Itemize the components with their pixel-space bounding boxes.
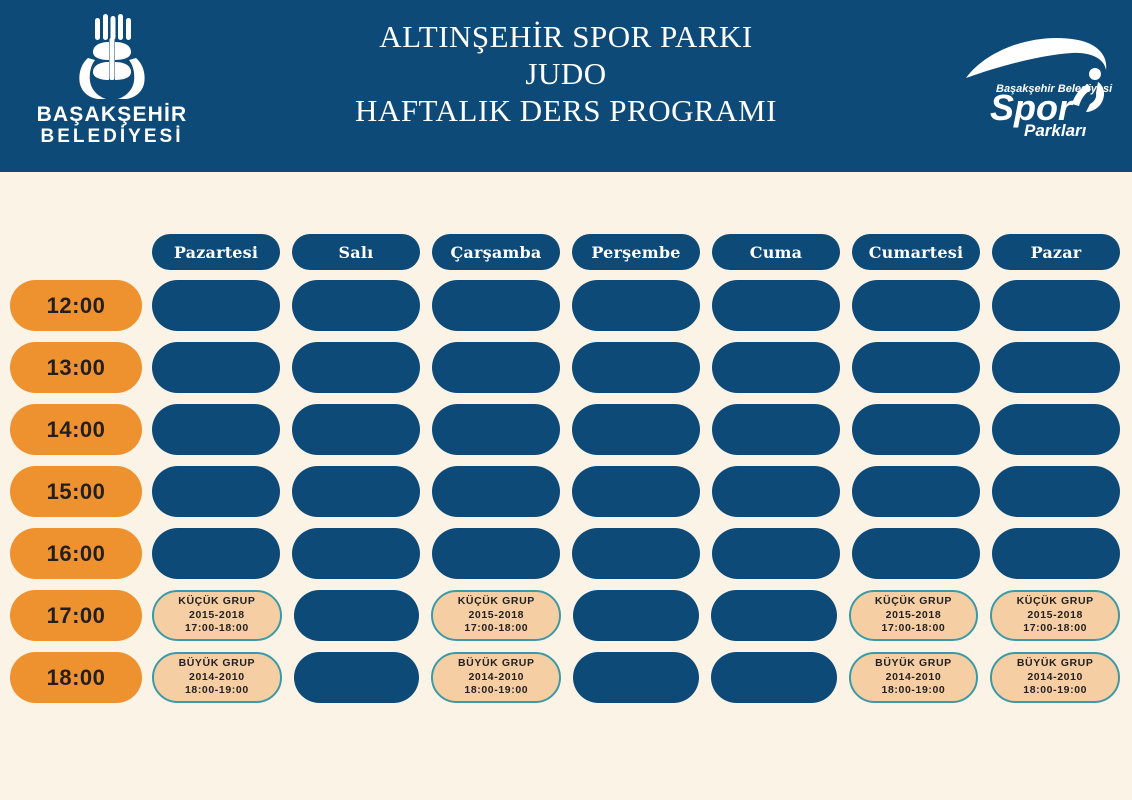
day-header-cuma[interactable]: Cuma bbox=[712, 234, 840, 270]
empty-cell-pazartesi[interactable] bbox=[152, 404, 280, 455]
empty-cell-sali[interactable] bbox=[292, 528, 420, 579]
class-time-range: 17:00-18:00 bbox=[185, 622, 249, 636]
empty-cell-sali[interactable] bbox=[292, 404, 420, 455]
empty-cell-persembe[interactable] bbox=[572, 466, 700, 517]
class-time-range: 18:00-19:00 bbox=[185, 684, 249, 698]
empty-cell-cuma[interactable] bbox=[712, 466, 840, 517]
schedule-row: 17:00KÜÇÜK GRUP2015-201817:00-18:00KÜÇÜK… bbox=[0, 590, 1132, 641]
class-cell-pazar[interactable]: BÜYÜK GRUP2014-201018:00-19:00 bbox=[990, 652, 1120, 703]
empty-cell-sali[interactable] bbox=[294, 590, 420, 641]
class-cell-carsamba[interactable]: KÜÇÜK GRUP2015-201817:00-18:00 bbox=[431, 590, 561, 641]
class-cell-pazar[interactable]: KÜÇÜK GRUP2015-201817:00-18:00 bbox=[990, 590, 1120, 641]
schedule-row: 12:00 bbox=[0, 280, 1132, 331]
empty-cell-carsamba[interactable] bbox=[432, 280, 560, 331]
spor-parklari-word-parklari: Parkları bbox=[1024, 121, 1087, 140]
class-birth-years: 2015-2018 bbox=[886, 609, 942, 623]
day-header-sali[interactable]: Salı bbox=[292, 234, 420, 270]
empty-cell-sali[interactable] bbox=[292, 466, 420, 517]
time-slot-label[interactable]: 14:00 bbox=[10, 404, 142, 455]
day-header-row: Pazartesi Salı Çarşamba Perşembe Cuma Cu… bbox=[152, 234, 1120, 270]
class-group-name: KÜÇÜK GRUP bbox=[875, 595, 952, 609]
class-cell-pazartesi[interactable]: KÜÇÜK GRUP2015-201817:00-18:00 bbox=[152, 590, 282, 641]
class-group-name: KÜÇÜK GRUP bbox=[178, 595, 255, 609]
empty-cell-pazartesi[interactable] bbox=[152, 280, 280, 331]
class-time-range: 18:00-19:00 bbox=[882, 684, 946, 698]
day-header-carsamba[interactable]: Çarşamba bbox=[432, 234, 560, 270]
schedule-row: 18:00BÜYÜK GRUP2014-201018:00-19:00BÜYÜK… bbox=[0, 652, 1132, 703]
empty-cell-sali[interactable] bbox=[292, 280, 420, 331]
empty-cell-persembe[interactable] bbox=[572, 280, 700, 331]
empty-cell-cuma[interactable] bbox=[711, 590, 837, 641]
schedule-row: 13:00 bbox=[0, 342, 1132, 393]
schedule-rows: 12:0013:0014:0015:0016:0017:00KÜÇÜK GRUP… bbox=[0, 280, 1132, 714]
schedule-row-cells bbox=[152, 280, 1120, 331]
class-group-name: KÜÇÜK GRUP bbox=[458, 595, 535, 609]
empty-cell-cumartesi[interactable] bbox=[852, 280, 980, 331]
time-slot-label[interactable]: 12:00 bbox=[10, 280, 142, 331]
empty-cell-persembe[interactable] bbox=[572, 528, 700, 579]
empty-cell-cumartesi[interactable] bbox=[852, 528, 980, 579]
schedule-row-cells bbox=[152, 466, 1120, 517]
empty-cell-pazar[interactable] bbox=[992, 528, 1120, 579]
class-time-range: 17:00-18:00 bbox=[464, 622, 528, 636]
class-group-name: BÜYÜK GRUP bbox=[1017, 657, 1094, 671]
schedule-row-cells: KÜÇÜK GRUP2015-201817:00-18:00KÜÇÜK GRUP… bbox=[152, 590, 1120, 641]
spor-parklari-logo: Başakşehir Belediyesi Spor Parkları bbox=[948, 26, 1118, 146]
page-title: ALTINŞEHİR SPOR PARKI JUDO HAFTALIK DERS… bbox=[236, 18, 896, 130]
empty-cell-sali[interactable] bbox=[292, 342, 420, 393]
schedule-row-cells: BÜYÜK GRUP2014-201018:00-19:00BÜYÜK GRUP… bbox=[152, 652, 1120, 703]
schedule-row-cells bbox=[152, 528, 1120, 579]
municipality-name-line1: BAŞAKŞEHİR bbox=[37, 103, 188, 126]
empty-cell-persembe[interactable] bbox=[573, 590, 699, 641]
day-header-persembe[interactable]: Perşembe bbox=[572, 234, 700, 270]
class-birth-years: 2014-2010 bbox=[468, 671, 524, 685]
day-header-cumartesi[interactable]: Cumartesi bbox=[852, 234, 980, 270]
class-cell-carsamba[interactable]: BÜYÜK GRUP2014-201018:00-19:00 bbox=[431, 652, 561, 703]
empty-cell-pazartesi[interactable] bbox=[152, 528, 280, 579]
schedule-row: 15:00 bbox=[0, 466, 1132, 517]
schedule-row: 16:00 bbox=[0, 528, 1132, 579]
day-header-pazartesi[interactable]: Pazartesi bbox=[152, 234, 280, 270]
schedule-row: 14:00 bbox=[0, 404, 1132, 455]
empty-cell-carsamba[interactable] bbox=[432, 528, 560, 579]
class-cell-cumartesi[interactable]: BÜYÜK GRUP2014-201018:00-19:00 bbox=[849, 652, 979, 703]
time-slot-label[interactable]: 15:00 bbox=[10, 466, 142, 517]
schedule-row-cells bbox=[152, 342, 1120, 393]
empty-cell-cumartesi[interactable] bbox=[852, 342, 980, 393]
empty-cell-persembe[interactable] bbox=[573, 652, 699, 703]
class-birth-years: 2014-2010 bbox=[1027, 671, 1083, 685]
time-slot-label[interactable]: 17:00 bbox=[10, 590, 142, 641]
class-birth-years: 2014-2010 bbox=[886, 671, 942, 685]
empty-cell-pazar[interactable] bbox=[992, 280, 1120, 331]
class-group-name: BÜYÜK GRUP bbox=[875, 657, 952, 671]
time-slot-label[interactable]: 18:00 bbox=[10, 652, 142, 703]
empty-cell-cuma[interactable] bbox=[712, 280, 840, 331]
poster-header: BAŞAKŞEHİR BELEDİYESİ ALTINŞEHİR SPOR PA… bbox=[0, 0, 1132, 172]
day-header-pazar[interactable]: Pazar bbox=[992, 234, 1120, 270]
time-slot-label[interactable]: 13:00 bbox=[10, 342, 142, 393]
empty-cell-cuma[interactable] bbox=[712, 528, 840, 579]
empty-cell-carsamba[interactable] bbox=[432, 342, 560, 393]
empty-cell-persembe[interactable] bbox=[572, 404, 700, 455]
title-line-venue: ALTINŞEHİR SPOR PARKI bbox=[236, 18, 896, 55]
empty-cell-cumartesi[interactable] bbox=[852, 466, 980, 517]
municipality-logo: BAŞAKŞEHİR BELEDİYESİ bbox=[12, 14, 212, 162]
class-time-range: 17:00-18:00 bbox=[1023, 622, 1087, 636]
empty-cell-pazartesi[interactable] bbox=[152, 342, 280, 393]
empty-cell-carsamba[interactable] bbox=[432, 404, 560, 455]
empty-cell-cumartesi[interactable] bbox=[852, 404, 980, 455]
class-cell-pazartesi[interactable]: BÜYÜK GRUP2014-201018:00-19:00 bbox=[152, 652, 282, 703]
empty-cell-persembe[interactable] bbox=[572, 342, 700, 393]
class-birth-years: 2015-2018 bbox=[1027, 609, 1083, 623]
empty-cell-sali[interactable] bbox=[294, 652, 420, 703]
time-slot-label[interactable]: 16:00 bbox=[10, 528, 142, 579]
title-line-program: HAFTALIK DERS PROGRAMI bbox=[236, 92, 896, 129]
wheat-in-hands-icon bbox=[66, 14, 158, 102]
class-cell-cumartesi[interactable]: KÜÇÜK GRUP2015-201817:00-18:00 bbox=[849, 590, 979, 641]
empty-cell-pazar[interactable] bbox=[992, 342, 1120, 393]
empty-cell-cuma[interactable] bbox=[712, 404, 840, 455]
class-time-range: 18:00-19:00 bbox=[1023, 684, 1087, 698]
class-group-name: BÜYÜK GRUP bbox=[458, 657, 535, 671]
schedule-row-cells bbox=[152, 404, 1120, 455]
class-time-range: 17:00-18:00 bbox=[882, 622, 946, 636]
class-birth-years: 2014-2010 bbox=[189, 671, 245, 685]
empty-cell-pazartesi[interactable] bbox=[152, 466, 280, 517]
empty-cell-cuma[interactable] bbox=[712, 342, 840, 393]
class-birth-years: 2015-2018 bbox=[189, 609, 245, 623]
title-line-sport: JUDO bbox=[236, 55, 896, 92]
empty-cell-pazar[interactable] bbox=[992, 404, 1120, 455]
weekly-schedule: Pazartesi Salı Çarşamba Perşembe Cuma Cu… bbox=[0, 172, 1132, 800]
class-group-name: BÜYÜK GRUP bbox=[179, 657, 256, 671]
class-time-range: 18:00-19:00 bbox=[464, 684, 528, 698]
class-group-name: KÜÇÜK GRUP bbox=[1017, 595, 1094, 609]
empty-cell-carsamba[interactable] bbox=[432, 466, 560, 517]
class-birth-years: 2015-2018 bbox=[468, 609, 524, 623]
empty-cell-cuma[interactable] bbox=[711, 652, 837, 703]
empty-cell-pazar[interactable] bbox=[992, 466, 1120, 517]
municipality-wordmark: BAŞAKŞEHİR BELEDİYESİ bbox=[37, 104, 188, 147]
municipality-name-line2: BELEDİYESİ bbox=[41, 126, 184, 147]
